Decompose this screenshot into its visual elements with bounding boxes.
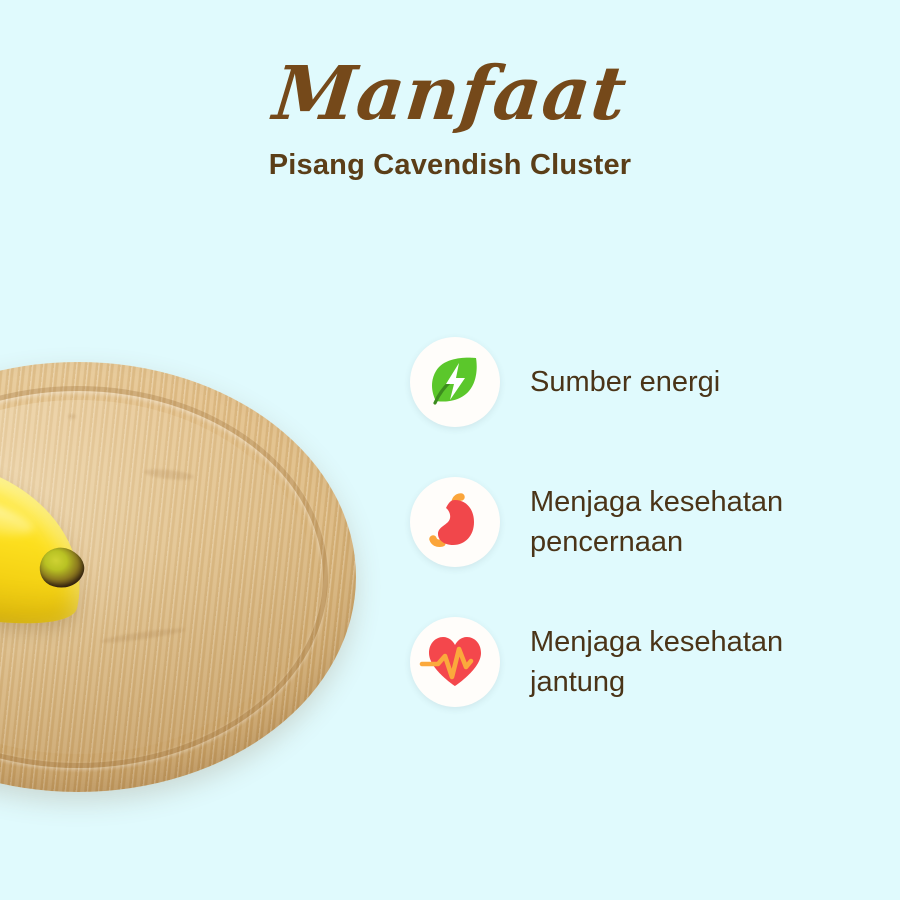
benefit-label: Menjaga kesehatan pencernaan — [530, 482, 783, 562]
poster-canvas: Manfaat Pisang Cavendish Cluster Sunprid… — [0, 0, 900, 900]
leaf-bolt-icon — [424, 351, 486, 413]
benefits-list: Sumber energi Menjaga kesehatan pencerna… — [410, 336, 880, 708]
page-title: Manfaat — [269, 52, 630, 136]
benefit-item-digestion[interactable]: Menjaga kesehatan pencernaan — [410, 476, 880, 568]
heart-pulse-icon — [422, 631, 488, 693]
benefit-item-energy[interactable]: Sumber energi — [410, 336, 880, 428]
banana: Sunpride — [0, 458, 110, 658]
wood-grain-mark — [68, 414, 76, 419]
poster-header: Manfaat Pisang Cavendish Cluster — [0, 0, 900, 182]
benefit-icon-badge — [410, 477, 500, 567]
benefit-icon-badge — [410, 337, 500, 427]
benefit-label: Menjaga kesehatan jantung — [530, 622, 783, 702]
benefit-icon-badge — [410, 617, 500, 707]
page-subtitle: Pisang Cavendish Cluster — [0, 148, 900, 182]
stomach-icon — [424, 491, 486, 553]
benefit-label: Sumber energi — [530, 362, 720, 402]
benefit-item-heart[interactable]: Menjaga kesehatan jantung — [410, 616, 880, 708]
product-photo: Sunpride — [0, 362, 356, 794]
